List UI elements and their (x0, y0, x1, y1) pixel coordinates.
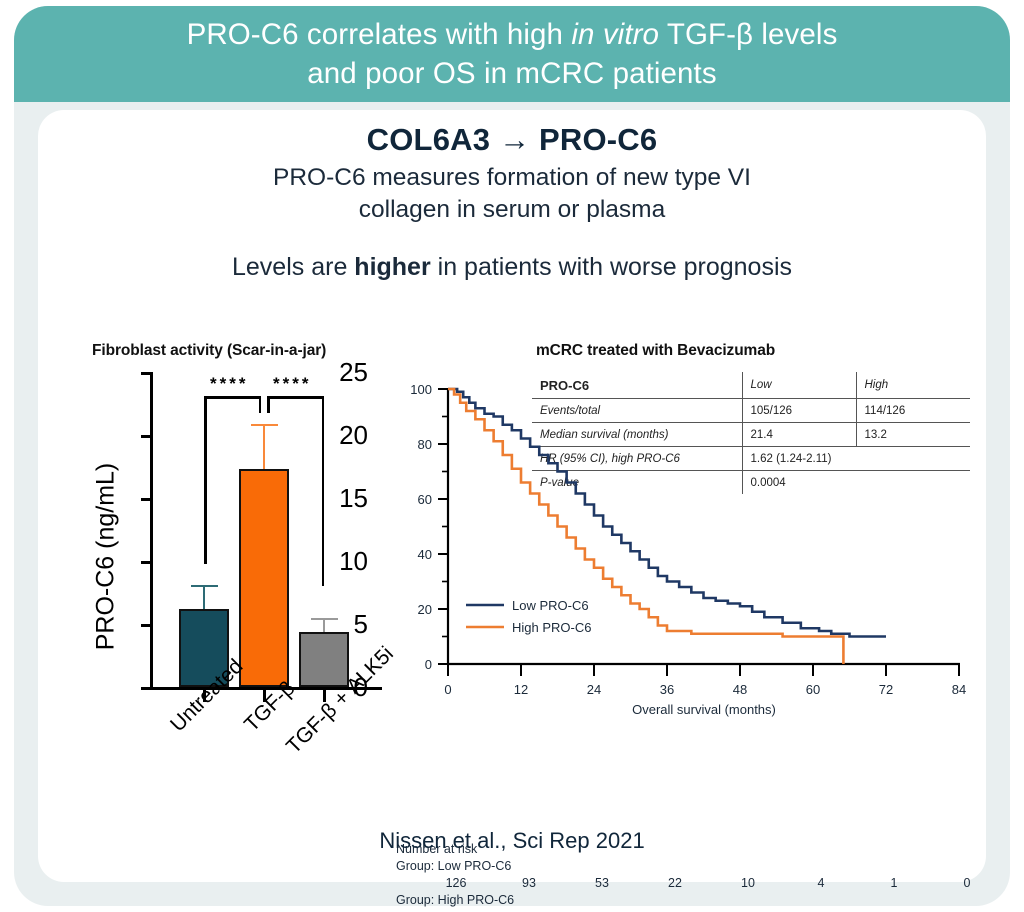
bar-yticklabel-10: 10 (339, 548, 368, 574)
slide-root: PRO-C6 correlates with high in vitro TGF… (0, 0, 1024, 912)
sig-bracket-2-right (322, 396, 325, 586)
banner-title: PRO-C6 correlates with high in vitro TGF… (157, 15, 868, 93)
bar-alk5i-errorbar (323, 619, 326, 632)
km-xticklabel-0: 0 (444, 682, 451, 697)
km-block: mCRC treated with Bevacizumab PRO-C6 Low… (388, 342, 988, 882)
banner-title-italic: in vitro (571, 18, 659, 51)
sig-stars-2: **** (273, 374, 311, 394)
heading-main: COL6A3 → PRO-C6 (38, 122, 986, 158)
bar-alk5i (299, 632, 349, 687)
km-legend-label-low: Low PRO-C6 (512, 598, 589, 613)
km-xticklabel-48: 48 (733, 682, 747, 697)
bar-ytick-25 (141, 372, 150, 375)
km-yticklabel-100: 100 (410, 382, 432, 397)
heading-levels: Levels are higher in patients with worse… (38, 253, 986, 282)
slide-banner: PRO-C6 correlates with high in vitro TGF… (14, 6, 1010, 102)
sig-bracket-1-top (204, 396, 261, 399)
risk-group-low-label: Group: Low PRO-C6 (396, 859, 996, 876)
km-xlabel: Overall survival (months) (632, 702, 776, 717)
km-x-ticks (448, 664, 959, 676)
risk-low-0: 126 (436, 876, 476, 892)
bar-untreated-errorbar (203, 586, 206, 609)
bar-ytick-0 (141, 687, 150, 690)
km-xticklabel-36: 36 (660, 682, 674, 697)
bar-tgfb (239, 469, 289, 687)
bar-ytick-15 (141, 498, 150, 501)
km-legend-label-high: High PRO-C6 (512, 620, 591, 635)
content-panel: COL6A3 → PRO-C6 PRO-C6 measures formatio… (38, 110, 986, 882)
sig-stars-1: **** (210, 374, 248, 394)
risk-low-48: 10 (728, 876, 768, 892)
bar-chart-y-axis (150, 372, 153, 690)
heading-sub-line1: PRO-C6 measures formation of new type VI (273, 164, 751, 191)
bar-tgfb-errorbar (263, 425, 266, 469)
risk-row-low: 126 93 53 22 10 4 1 0 (396, 876, 996, 893)
heading-levels-pre: Levels are (232, 253, 354, 281)
km-plot-svg: 0 20 40 60 80 100 0 12 (388, 342, 988, 842)
citation: Nissen et al., Sci Rep 2021 (38, 828, 986, 854)
km-y-ticks (438, 389, 448, 664)
bar-ytick-20 (141, 435, 150, 438)
km-yticklabel-0: 0 (425, 657, 432, 672)
bar-yticklabel-20: 20 (339, 422, 368, 448)
risk-low-60: 4 (801, 876, 841, 892)
risk-low-72: 1 (874, 876, 914, 892)
heading-sub: PRO-C6 measures formation of new type VI… (38, 162, 986, 227)
banner-title-line1-post: TGF-β levels (659, 18, 837, 51)
bar-yticklabel-15: 15 (339, 485, 368, 511)
sig-bracket-2-left (267, 396, 270, 413)
km-yticklabel-80: 80 (418, 437, 432, 452)
km-xticklabel-72: 72 (879, 682, 893, 697)
bar-untreated-errorcap (191, 585, 218, 588)
bar-alk5i-errorcap (311, 618, 338, 621)
bar-chart: Fibroblast activity (Scar-in-a-jar) PRO-… (54, 342, 414, 862)
bar-chart-title: Fibroblast activity (Scar-in-a-jar) (92, 342, 326, 360)
risk-low-36: 22 (655, 876, 695, 892)
km-xticklabel-84: 84 (952, 682, 966, 697)
sig-bracket-1-left (204, 396, 207, 564)
risk-low-84: 0 (947, 876, 987, 892)
km-xticklabel-60: 60 (806, 682, 820, 697)
bar-yticklabel-5: 5 (354, 611, 368, 637)
risk-low-12: 93 (509, 876, 549, 892)
risk-group-high-label: Group: High PRO-C6 (396, 893, 996, 910)
km-xticklabel-24: 24 (587, 682, 601, 697)
bar-ytick-10 (141, 561, 150, 564)
bar-chart-plot: 0 5 10 15 20 25 (150, 372, 382, 690)
km-yticklabel-40: 40 (418, 547, 432, 562)
heading-levels-bold: higher (354, 253, 430, 281)
heading-block: COL6A3 → PRO-C6 PRO-C6 measures formatio… (38, 122, 986, 282)
bar-tgfb-errorcap (251, 424, 278, 427)
km-yticklabel-20: 20 (418, 602, 432, 617)
banner-title-line2: and poor OS in mCRC patients (307, 57, 716, 90)
bar-chart-ylabel: PRO-C6 (ng/mL) (92, 407, 121, 707)
km-yticklabel-60: 60 (418, 492, 432, 507)
km-legend: Low PRO-C6 High PRO-C6 (466, 598, 591, 635)
banner-title-line1-pre: PRO-C6 correlates with high (187, 18, 572, 51)
bar-ytick-5 (141, 624, 150, 627)
risk-low-24: 53 (582, 876, 622, 892)
heading-sub-line2: collagen in serum or plasma (359, 196, 665, 223)
bar-yticklabel-25: 25 (339, 359, 368, 385)
heading-levels-post: in patients with worse prognosis (431, 253, 792, 281)
km-xticklabel-12: 12 (514, 682, 528, 697)
sig-bracket-1-right (259, 396, 262, 413)
sig-bracket-2-top (267, 396, 324, 399)
